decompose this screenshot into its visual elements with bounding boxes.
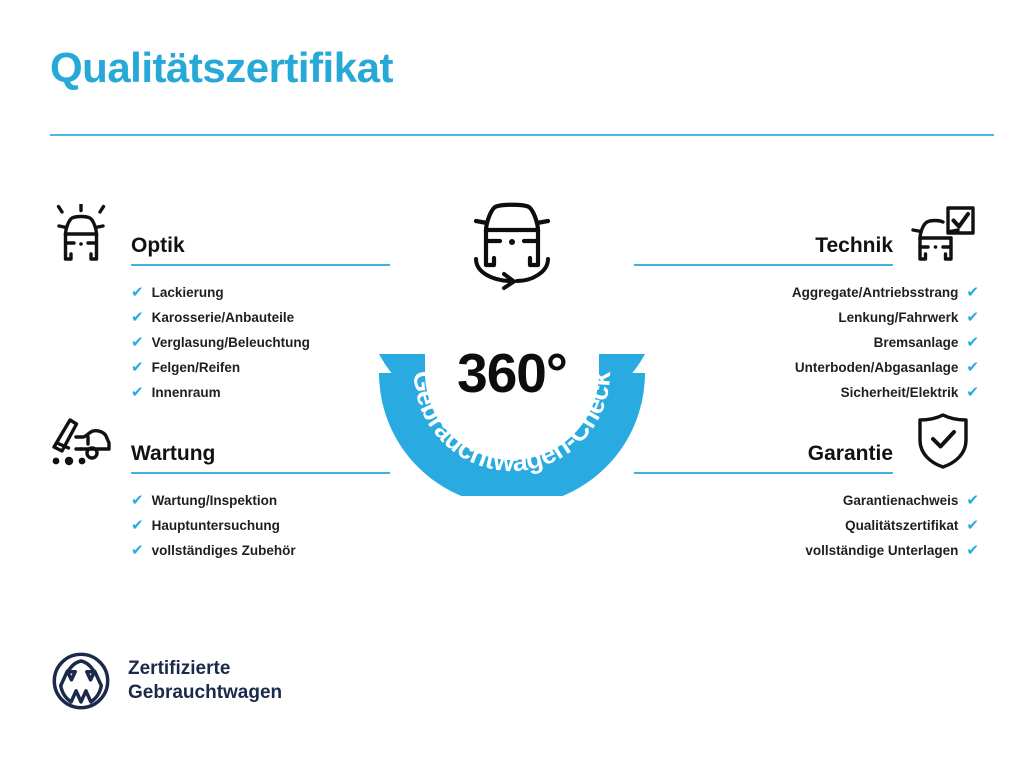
shield-check-icon xyxy=(907,410,979,472)
list-item: ✔ Innenraum xyxy=(45,380,390,405)
section-garantie-header: Garantie xyxy=(634,408,979,474)
section-optik-title: Optik xyxy=(131,234,390,257)
check-icon: ✔ xyxy=(966,385,979,400)
volkswagen-footer: Zertifizierte Gebrauchtwagen xyxy=(52,652,282,710)
section-optik-divider xyxy=(131,264,390,266)
check-icon: ✔ xyxy=(131,285,144,300)
section-technik-titlewrap: Technik xyxy=(634,234,893,266)
check-icon: ✔ xyxy=(131,543,144,558)
list-item-label: Lenkung/Fahrwerk xyxy=(838,311,958,325)
section-technik-list: Aggregate/Antriebsstrang ✔ Lenkung/Fahrw… xyxy=(634,280,979,405)
list-item-label: Felgen/Reifen xyxy=(152,361,241,375)
section-technik-title: Technik xyxy=(634,234,893,257)
list-item-label: vollständige Unterlagen xyxy=(805,544,958,558)
section-technik-divider xyxy=(634,264,893,266)
list-item-label: Lackierung xyxy=(152,286,224,300)
list-item-label: Karosserie/Anbauteile xyxy=(152,311,295,325)
list-item: ✔ Wartung/Inspektion xyxy=(45,488,390,513)
list-item-label: Bremsanlage xyxy=(874,336,959,350)
list-item: Garantienachweis ✔ xyxy=(634,488,979,513)
list-item-label: Wartung/Inspektion xyxy=(152,494,278,508)
check-icon: ✔ xyxy=(966,360,979,375)
check-icon: ✔ xyxy=(966,493,979,508)
car-checkbox-icon xyxy=(907,202,979,264)
certificate-page: Qualitätszertifikat xyxy=(0,0,1024,768)
list-item: ✔ Lackierung xyxy=(45,280,390,305)
badge-360-gebrauchtwagen-check: Gebrauchtwagen-Check 360° xyxy=(374,196,650,496)
car-polish-icon xyxy=(45,202,117,264)
page-header: Qualitätszertifikat xyxy=(50,46,994,90)
check-icon: ✔ xyxy=(131,518,144,533)
section-wartung-divider xyxy=(131,472,390,474)
list-item-label: Hauptuntersuchung xyxy=(152,519,280,533)
section-wartung-list: ✔ Wartung/Inspektion ✔ Hauptuntersuchung… xyxy=(45,488,390,563)
page-title: Qualitätszertifikat xyxy=(50,46,994,90)
check-icon: ✔ xyxy=(131,385,144,400)
list-item: Bremsanlage ✔ xyxy=(634,330,979,355)
check-icon: ✔ xyxy=(966,335,979,350)
list-item: Aggregate/Antriebsstrang ✔ xyxy=(634,280,979,305)
check-icon: ✔ xyxy=(131,360,144,375)
section-garantie-titlewrap: Garantie xyxy=(634,442,893,474)
footer-line-2: Gebrauchtwagen xyxy=(128,681,282,705)
list-item-label: Unterboden/Abgasanlage xyxy=(795,361,959,375)
section-technik-header: Technik xyxy=(634,200,979,266)
list-item: Qualitätszertifikat ✔ xyxy=(634,513,979,538)
section-optik-header: Optik xyxy=(45,200,390,266)
list-item-label: Garantienachweis xyxy=(843,494,959,508)
check-icon: ✔ xyxy=(966,543,979,558)
section-optik: Optik ✔ Lackierung ✔ Karosserie/Anbautei… xyxy=(45,200,390,405)
check-icon: ✔ xyxy=(966,518,979,533)
header-divider xyxy=(50,134,994,136)
section-wartung-title: Wartung xyxy=(131,442,390,465)
car-service-tools-icon xyxy=(45,410,117,472)
section-optik-list: ✔ Lackierung ✔ Karosserie/Anbauteile ✔ V… xyxy=(45,280,390,405)
check-icon: ✔ xyxy=(131,310,144,325)
section-garantie-title: Garantie xyxy=(634,442,893,465)
check-icon: ✔ xyxy=(131,493,144,508)
list-item: Sicherheit/Elektrik ✔ xyxy=(634,380,979,405)
list-item-label: Verglasung/Beleuchtung xyxy=(152,336,310,350)
section-optik-titlewrap: Optik xyxy=(131,234,390,266)
section-wartung-header: Wartung xyxy=(45,408,390,474)
list-item: Unterboden/Abgasanlage ✔ xyxy=(634,355,979,380)
list-item-label: vollständiges Zubehör xyxy=(152,544,296,558)
list-item-label: Aggregate/Antriebsstrang xyxy=(792,286,959,300)
volkswagen-footer-text: Zertifizierte Gebrauchtwagen xyxy=(128,657,282,704)
section-technik: Technik Aggregate/Antriebsstrang ✔ Lenku… xyxy=(634,200,979,405)
list-item-label: Sicherheit/Elektrik xyxy=(841,386,959,400)
section-garantie: Garantie Garantienachweis ✔ Qualitätszer… xyxy=(634,408,979,563)
list-item: vollständige Unterlagen ✔ xyxy=(634,538,979,563)
section-wartung-titlewrap: Wartung xyxy=(131,442,390,474)
car-front-rotate-icon xyxy=(462,196,562,292)
list-item: ✔ Karosserie/Anbauteile xyxy=(45,305,390,330)
section-garantie-divider xyxy=(634,472,893,474)
list-item-label: Innenraum xyxy=(152,386,221,400)
check-icon: ✔ xyxy=(966,285,979,300)
list-item: ✔ Hauptuntersuchung xyxy=(45,513,390,538)
section-wartung: Wartung ✔ Wartung/Inspektion ✔ Hauptunte… xyxy=(45,408,390,563)
check-icon: ✔ xyxy=(131,335,144,350)
list-item: ✔ Verglasung/Beleuchtung xyxy=(45,330,390,355)
section-garantie-list: Garantienachweis ✔ Qualitätszertifikat ✔… xyxy=(634,488,979,563)
list-item: ✔ Felgen/Reifen xyxy=(45,355,390,380)
list-item: ✔ vollständiges Zubehör xyxy=(45,538,390,563)
check-icon: ✔ xyxy=(966,310,979,325)
footer-line-1: Zertifizierte xyxy=(128,657,282,681)
volkswagen-logo xyxy=(52,652,110,710)
list-item-label: Qualitätszertifikat xyxy=(845,519,958,533)
badge-360-value: 360° xyxy=(374,346,650,401)
list-item: Lenkung/Fahrwerk ✔ xyxy=(634,305,979,330)
